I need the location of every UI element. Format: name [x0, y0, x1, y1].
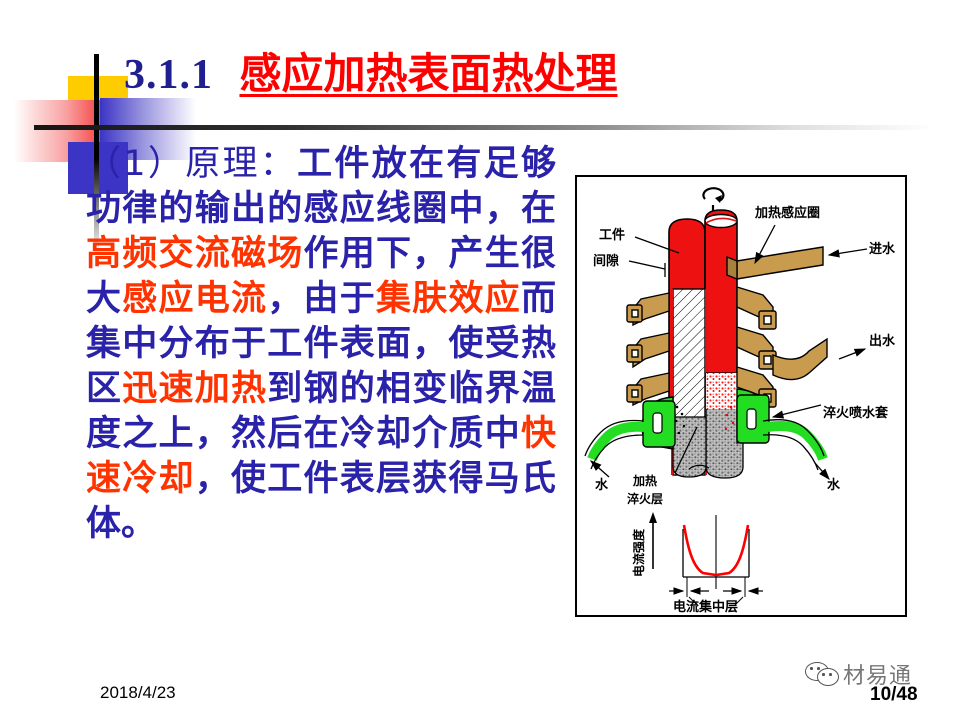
diagram-label-workpiece: 工件	[599, 227, 625, 243]
diagram-label-water-out: 出水	[869, 333, 896, 349]
body-paragraph: （1）原理：工件放在有足够功律的输出的感应线圈中，在高频交流磁场作用下，产生很大…	[86, 142, 556, 547]
body-segments: 工件放在有足够功律的输出的感应线圈中，在高频交流磁场作用下，产生很大感应电流，由…	[86, 144, 556, 544]
body-segment-3: 感应电流	[122, 279, 267, 319]
wechat-icon	[805, 662, 839, 686]
body-segment-1: 高频交流磁场	[86, 234, 304, 274]
body-segment-4: ，由于	[267, 279, 376, 319]
diagram-label-gap: 间隙	[593, 253, 619, 269]
body-segment-7: 迅速加热	[122, 369, 267, 409]
body-segment-5: 集肤效应	[376, 279, 521, 319]
title-main-text: 感应加热表面热处理	[239, 49, 617, 98]
diagram-label-current-layer: 电流集中层	[673, 599, 738, 615]
diagram-label-hardened-1: 加热	[632, 473, 657, 488]
title-number: 3.1.1	[124, 52, 213, 98]
body-lead: （1）原理：	[86, 144, 297, 184]
current-intensity-plot: 电流强度 电流集中层	[631, 512, 763, 615]
diagram-label-heating-coil: 加热感应圈	[754, 205, 820, 221]
diagram-label-water-left: 水	[595, 477, 609, 493]
footer-date: 2018/4/23	[100, 683, 176, 703]
title-divider-rule	[34, 125, 934, 130]
induction-hardening-diagram: 工件 间隙 加热感应圈 进水 出水 淬火喷水套 水 水 加热 淬火层 电流强度 …	[575, 175, 907, 617]
diagram-label-water-right: 水	[827, 477, 841, 493]
footer-page-number: 10/48	[870, 684, 918, 706]
diagram-label-quench-jacket: 淬火喷水套	[823, 405, 889, 421]
diagram-label-hardened-2: 淬火层	[627, 491, 663, 506]
diagram-label-water-in: 进水	[869, 241, 896, 257]
page-title: 3.1.1 感应加热表面热处理	[124, 40, 617, 101]
diagram-label-current-axis: 电流强度	[631, 528, 646, 577]
